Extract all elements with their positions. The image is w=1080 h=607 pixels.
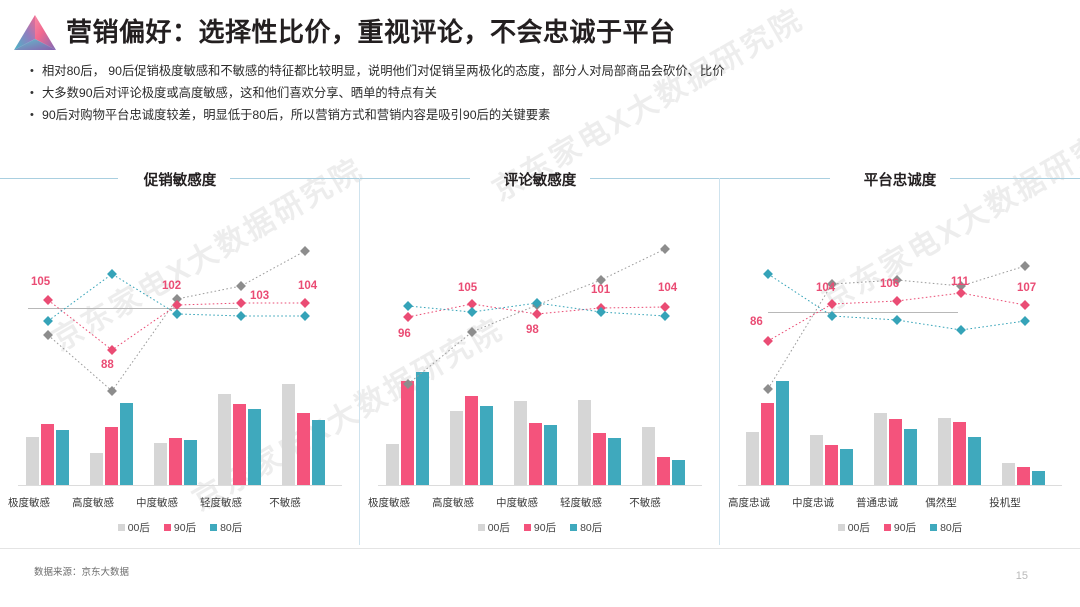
index-lines [738,204,1062,486]
gradient-triangle-logo-icon [12,13,58,53]
bullet-item: • 90后对购物平台忠诚度较差，明显低于80后，所以营销方式和营销内容是吸引90… [30,108,1050,123]
legend-label: 80后 [580,520,602,535]
bullet-item: • 相对80后， 90后促销极度敏感和不敏感的特征都比较明显，说明他们对促销呈两… [30,64,1050,79]
legend-label: 80后 [940,520,962,535]
bullet-marker-icon: • [30,108,42,123]
value-label-90: 98 [526,324,539,336]
value-label-90: 96 [398,328,411,340]
legend-label: 00后 [848,520,870,535]
value-label-90: 104 [658,282,677,294]
legend-item-00[interactable]: 00后 [118,520,150,535]
category-label: 中度敏感 [124,495,190,510]
value-label-90: 104 [816,282,835,294]
category-label: 不敏感 [252,495,318,510]
value-label-90: 103 [250,290,269,302]
chart-legend: 00后 90后 80后 [0,520,360,535]
legend-label: 80后 [220,520,242,535]
legend-item-90[interactable]: 90后 [524,520,556,535]
value-label-90: 101 [591,284,610,296]
bullet-item: • 大多数90后对评论极度或高度敏感，这和他们喜欢分享、晒单的特点有关 [30,86,1050,101]
legend-swatch-icon [210,524,217,531]
legend-item-90[interactable]: 90后 [164,520,196,535]
value-label-90: 105 [458,282,477,294]
legend-swatch-icon [524,524,531,531]
legend-item-80[interactable]: 80后 [930,520,962,535]
category-label: 普通忠诚 [844,495,910,510]
legend-item-00[interactable]: 00后 [838,520,870,535]
value-label-90: 107 [1017,282,1036,294]
chart-title: 促销敏感度 [0,169,360,190]
slide-header: 营销偏好：选择性比价，重视评论，不会忠诚于平台 [0,0,1080,60]
chart-panel-promotion-sensitivity[interactable]: 促销敏感度 [0,168,360,545]
legend-swatch-icon [118,524,125,531]
value-label-90: 104 [298,280,317,292]
chart-legend: 00后 90后 80后 [360,520,720,535]
bullet-marker-icon: • [30,64,42,79]
category-label: 偶然型 [908,495,974,510]
value-label-90: 106 [880,278,899,290]
category-label: 高度敏感 [60,495,126,510]
legend-swatch-icon [164,524,171,531]
chart-title: 平台忠诚度 [720,169,1080,190]
plot-area: 105 88 102 103 104 [18,204,342,486]
legend-swatch-icon [884,524,891,531]
category-label: 高度敏感 [420,495,486,510]
page-title: 营销偏好：选择性比价，重视评论，不会忠诚于平台 [66,12,676,49]
legend-item-00[interactable]: 00后 [478,520,510,535]
legend-swatch-icon [478,524,485,531]
legend-label: 00后 [488,520,510,535]
category-label: 极度敏感 [356,495,422,510]
plot-area: 86 104 106 111 107 [738,204,1062,486]
chart-legend: 00后 90后 80后 [720,520,1080,535]
legend-item-90[interactable]: 90后 [884,520,916,535]
legend-item-80[interactable]: 80后 [210,520,242,535]
value-label-90: 88 [101,359,114,371]
bullet-text: 90后对购物平台忠诚度较差，明显低于80后，所以营销方式和营销内容是吸引90后的… [42,108,550,123]
legend-label: 00后 [128,520,150,535]
chart-panel-platform-loyalty[interactable]: 平台忠诚度 [720,168,1080,545]
category-label: 极度敏感 [0,495,62,510]
value-label-90: 86 [750,316,763,328]
legend-swatch-icon [838,524,845,531]
legend-swatch-icon [930,524,937,531]
category-label: 中度忠诚 [780,495,846,510]
legend-swatch-icon [570,524,577,531]
category-label: 轻度敏感 [548,495,614,510]
legend-label: 90后 [894,520,916,535]
plot-area: 96 105 98 101 104 [378,204,702,486]
page-number: 15 [1016,570,1028,582]
chart-panel-review-sensitivity[interactable]: 评论敏感度 [360,168,720,545]
source-note: 数据来源：京东大数据 [34,564,129,578]
bullet-marker-icon: • [30,86,42,101]
index-lines [378,204,702,486]
value-label-90: 111 [951,276,969,288]
legend-item-80[interactable]: 80后 [570,520,602,535]
value-label-90: 105 [31,276,50,288]
bullet-text: 大多数90后对评论极度或高度敏感，这和他们喜欢分享、晒单的特点有关 [42,86,437,101]
legend-label: 90后 [534,520,556,535]
chart-title: 评论敏感度 [360,169,720,190]
value-label-90: 102 [162,280,181,292]
legend-label: 90后 [174,520,196,535]
bullet-list: • 相对80后， 90后促销极度敏感和不敏感的特征都比较明显，说明他们对促销呈两… [30,64,1050,130]
index-lines [18,204,342,486]
category-label: 高度忠诚 [716,495,782,510]
footer-divider [0,548,1080,549]
category-label: 中度敏感 [484,495,550,510]
category-label: 不敏感 [612,495,678,510]
bullet-text: 相对80后， 90后促销极度敏感和不敏感的特征都比较明显，说明他们对促销呈两极化… [42,64,725,79]
category-label: 投机型 [972,495,1038,510]
category-label: 轻度敏感 [188,495,254,510]
charts-band: 促销敏感度 [0,168,1080,545]
